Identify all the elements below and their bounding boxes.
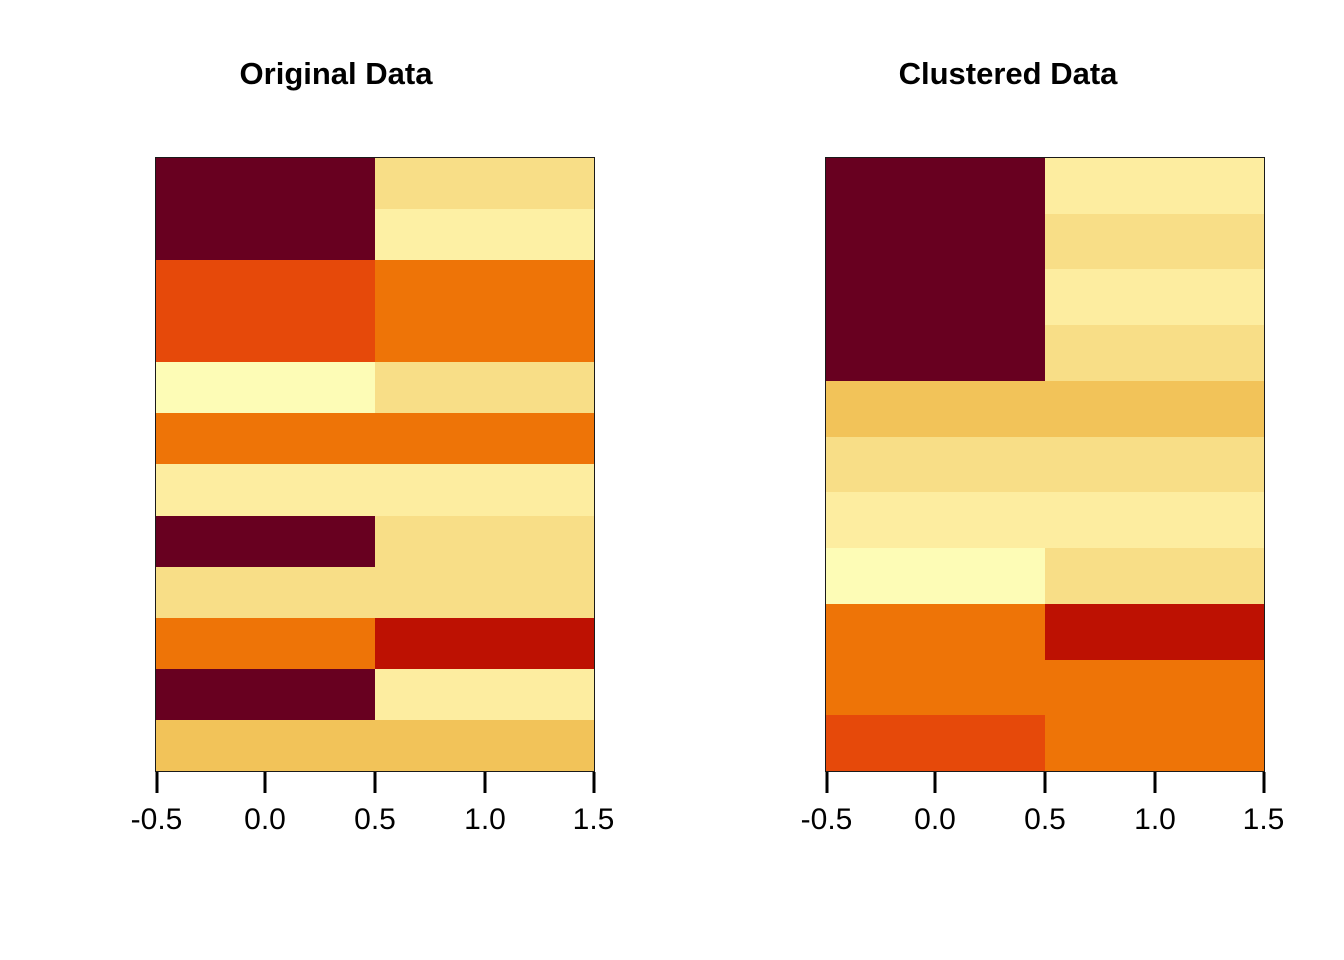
x-axis-tick-label: 1.5 [573, 802, 615, 838]
heatmap-row [156, 669, 594, 720]
heatmap-cell [826, 158, 1045, 214]
heatmap-row [826, 214, 1264, 270]
heatmap-row [156, 158, 594, 209]
x-axis-tick-label: 0.0 [244, 802, 286, 838]
heatmap-cell [826, 660, 1045, 716]
heatmap-cell [156, 720, 375, 771]
heatmap-cell [375, 464, 594, 515]
heatmap-row [826, 437, 1264, 493]
heatmap-cell [1045, 214, 1264, 270]
x-axis-tick-label: -0.5 [801, 802, 853, 838]
heatmap-cell [826, 492, 1045, 548]
x-axis-tick-label: 1.5 [1243, 802, 1285, 838]
x-axis-tick-label: 0.5 [354, 802, 396, 838]
heatmap-cell [156, 516, 375, 567]
heatmap-row [156, 567, 594, 618]
heatmap-cell [156, 618, 375, 669]
heatmap-cell [156, 209, 375, 260]
heatmap-row [826, 604, 1264, 660]
heatmap-row [826, 325, 1264, 381]
x-axis-tick-label: -0.5 [131, 802, 183, 838]
panel-title-clustered: Clustered Data [672, 57, 1344, 91]
x-axis-tick [825, 772, 828, 793]
heatmap-cell [826, 437, 1045, 493]
heatmap-row [156, 209, 594, 260]
heatmap-cell [1045, 158, 1264, 214]
heatmap-row [826, 660, 1264, 716]
heatmap-cell [1045, 715, 1264, 771]
heatmap-grid-original [156, 158, 594, 771]
heatmap-cell [1045, 660, 1264, 716]
heatmap-cell [826, 604, 1045, 660]
x-axis-tick [1262, 772, 1265, 793]
x-axis-original: -0.50.00.51.01.5 [155, 772, 595, 852]
heatmap-row [826, 269, 1264, 325]
heatmap-cell [156, 669, 375, 720]
x-axis-tick [155, 772, 158, 793]
heatmap-cell [375, 209, 594, 260]
heatmap-row [156, 260, 594, 311]
heatmap-cell [156, 260, 375, 311]
heatmap-cell [826, 214, 1045, 270]
heatmap-cell [375, 158, 594, 209]
heatmap-cell [375, 516, 594, 567]
heatmap-cell [156, 413, 375, 464]
x-axis-tick [264, 772, 267, 793]
heatmap-cell [1045, 325, 1264, 381]
heatmap-cell [826, 325, 1045, 381]
heatmap-cell [826, 381, 1045, 437]
x-axis-tick [1154, 772, 1157, 793]
x-axis-tick-label: 1.0 [1134, 802, 1176, 838]
heatmap-grid-clustered [826, 158, 1264, 771]
heatmap-row [156, 311, 594, 362]
heatmap-cell [1045, 437, 1264, 493]
heatmap-cell [375, 720, 594, 771]
heatmap-row [826, 492, 1264, 548]
heatmap-row [156, 464, 594, 515]
figure-canvas: Original Data -0.50.00.51.01.5 Clustered… [0, 0, 1344, 960]
panel-title-original: Original Data [0, 57, 672, 91]
heatmap-row [156, 720, 594, 771]
heatmap-cell [375, 413, 594, 464]
heatmap-cell [375, 567, 594, 618]
x-axis-tick [484, 772, 487, 793]
heatmap-original [155, 157, 595, 772]
x-axis-tick-label: 0.0 [914, 802, 956, 838]
heatmap-cell [375, 260, 594, 311]
heatmap-cell [826, 269, 1045, 325]
heatmap-cell [156, 158, 375, 209]
panel-clustered-data: Clustered Data -0.50.00.51.01.5 [672, 0, 1344, 960]
heatmap-cell [1045, 269, 1264, 325]
heatmap-clustered [825, 157, 1265, 772]
heatmap-cell [375, 311, 594, 362]
heatmap-cell [156, 311, 375, 362]
heatmap-cell [1045, 604, 1264, 660]
heatmap-row [826, 715, 1264, 771]
heatmap-cell [375, 618, 594, 669]
heatmap-row [156, 413, 594, 464]
heatmap-row [156, 362, 594, 413]
heatmap-cell [156, 362, 375, 413]
heatmap-cell [156, 567, 375, 618]
x-axis-tick-label: 0.5 [1024, 802, 1066, 838]
x-axis-tick-label: 1.0 [464, 802, 506, 838]
x-axis-clustered: -0.50.00.51.01.5 [825, 772, 1265, 852]
x-axis-tick [1044, 772, 1047, 793]
heatmap-cell [375, 362, 594, 413]
panel-original-data: Original Data -0.50.00.51.01.5 [0, 0, 672, 960]
heatmap-cell [156, 464, 375, 515]
heatmap-row [156, 618, 594, 669]
x-axis-tick [934, 772, 937, 793]
heatmap-row [826, 158, 1264, 214]
x-axis-tick [374, 772, 377, 793]
heatmap-cell [1045, 492, 1264, 548]
heatmap-cell [1045, 381, 1264, 437]
heatmap-row [826, 548, 1264, 604]
heatmap-row [156, 516, 594, 567]
heatmap-cell [826, 715, 1045, 771]
heatmap-cell [826, 548, 1045, 604]
heatmap-cell [1045, 548, 1264, 604]
heatmap-row [826, 381, 1264, 437]
heatmap-cell [375, 669, 594, 720]
x-axis-tick [592, 772, 595, 793]
